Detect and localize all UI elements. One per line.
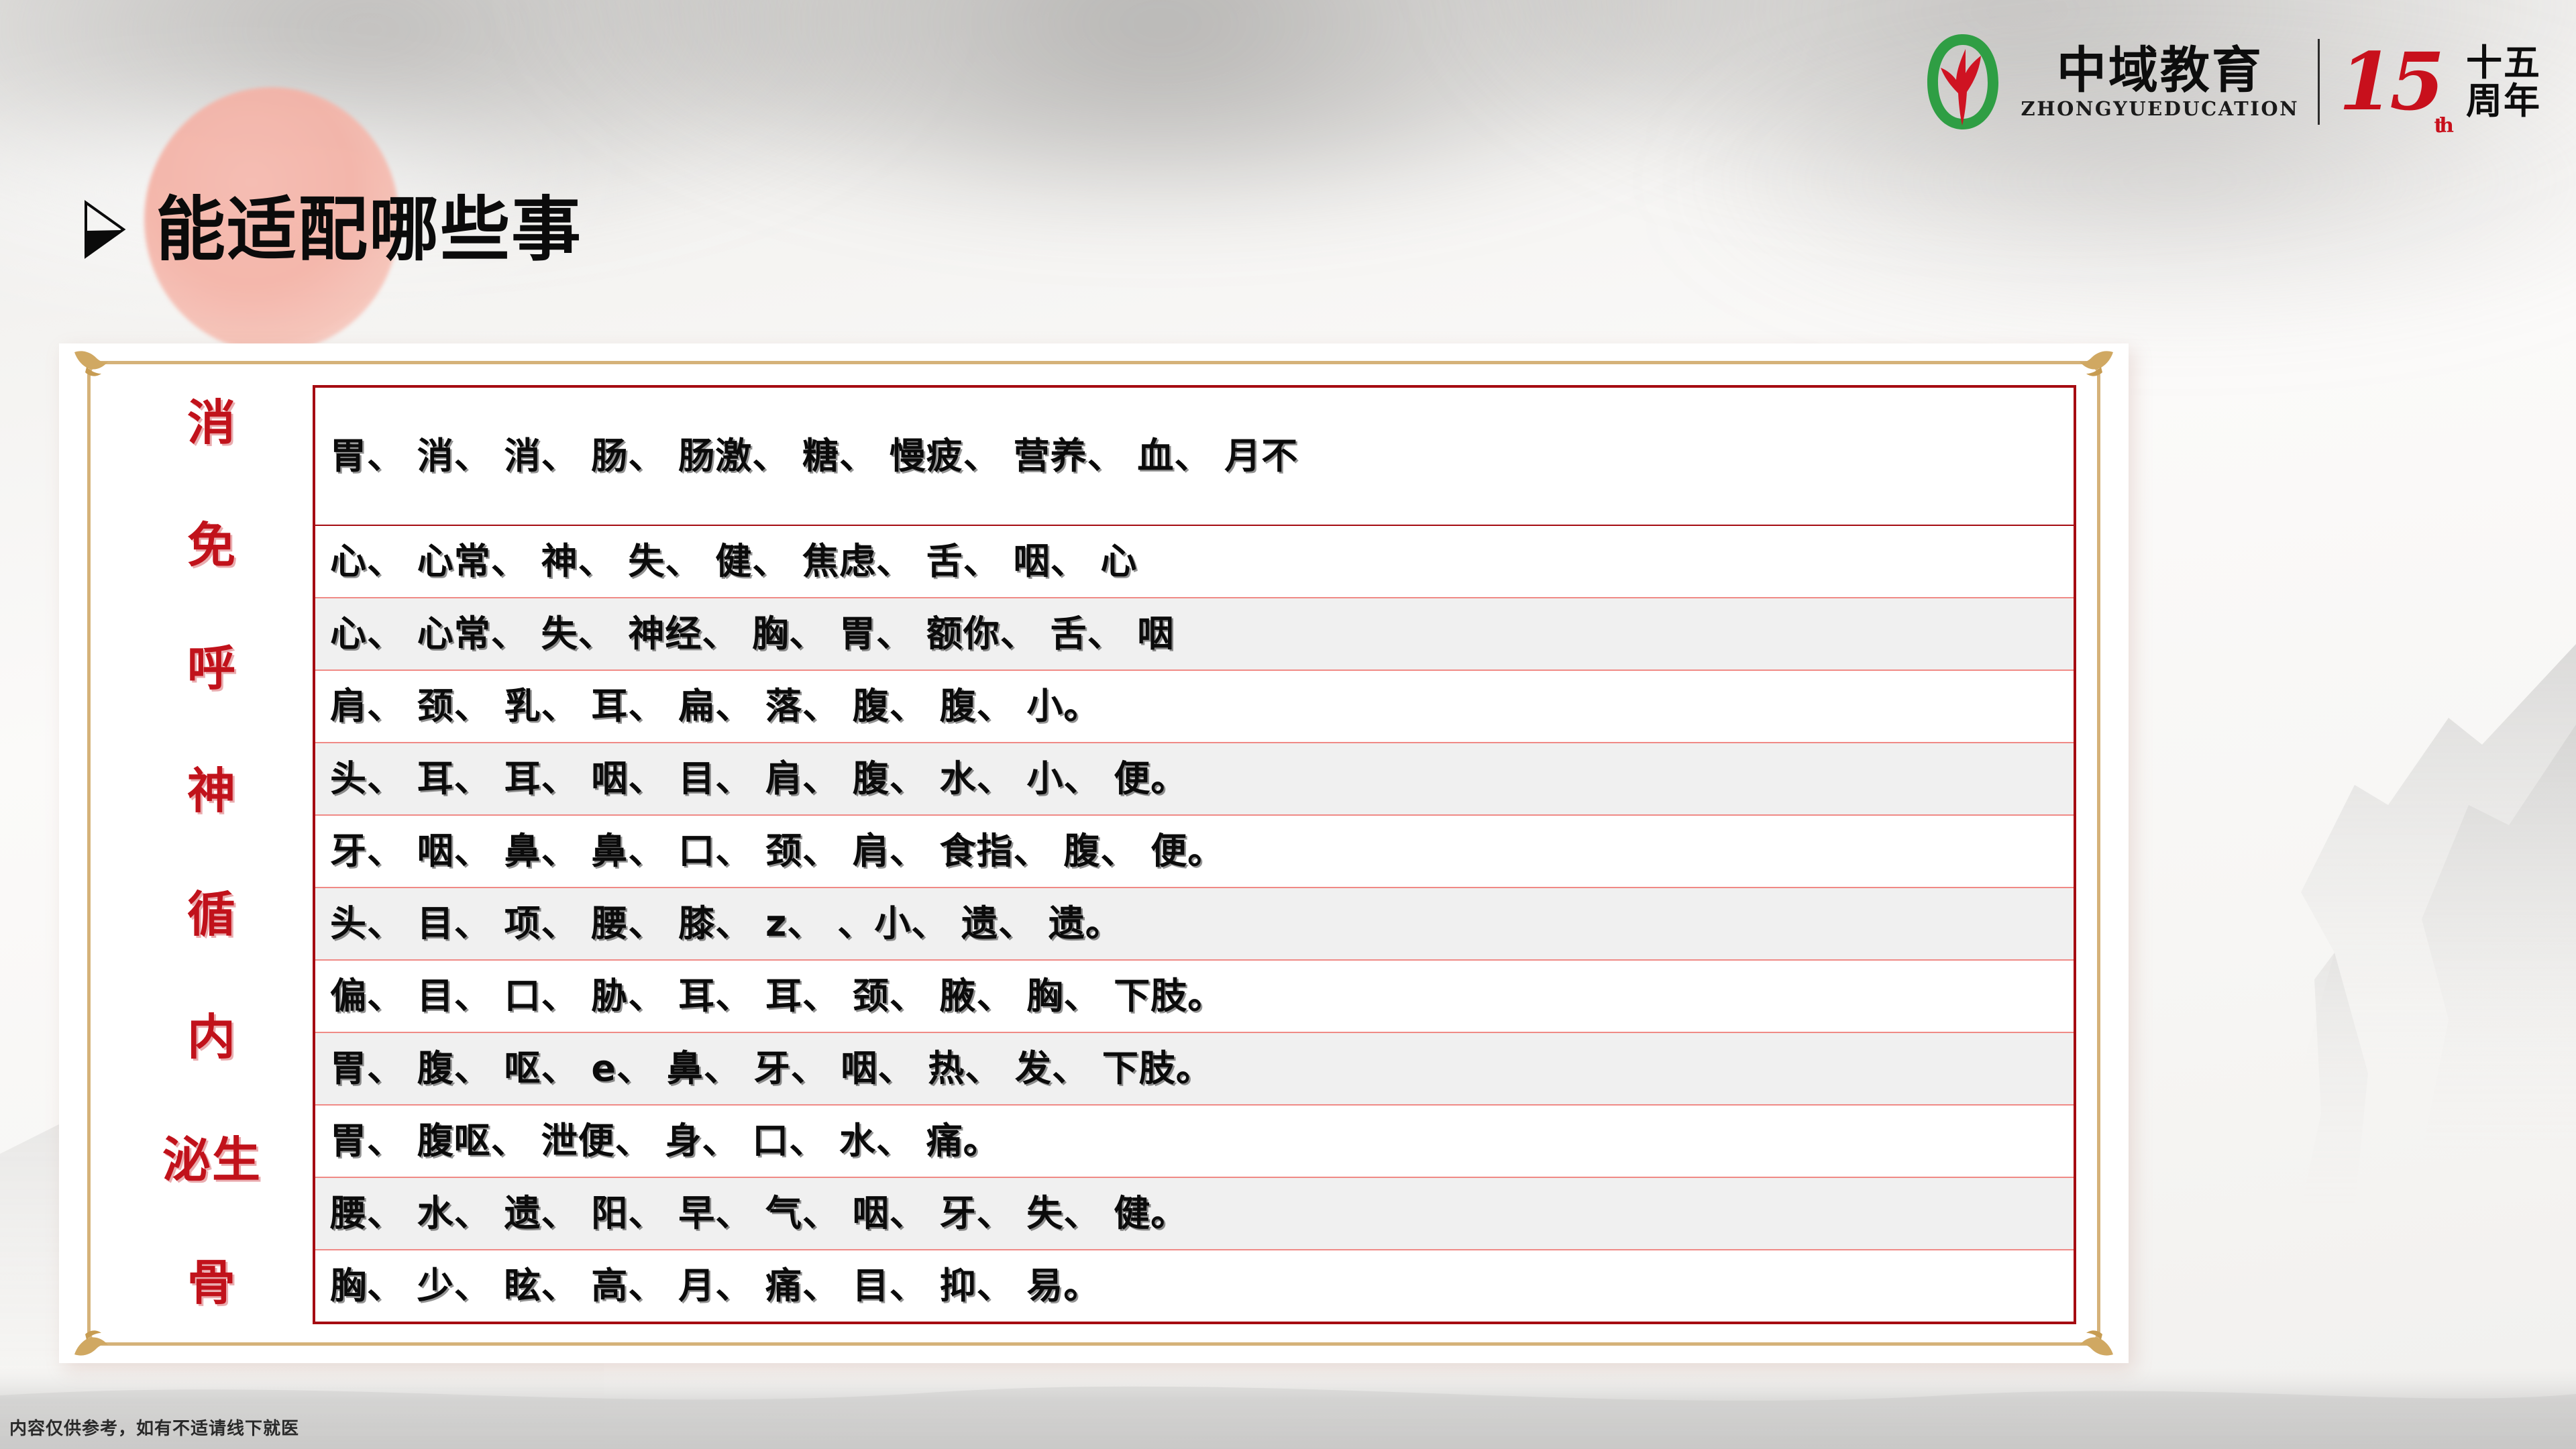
table-row: 头、 目、 项、 腰、 膝、 z、 、小、 遗、 遗。 [314,888,2075,960]
gold-corner-ornament-icon [73,348,109,378]
table-row: 心、 心常、 失、 神经、 胸、 胃、 额你、 舌、 咽 [314,598,2075,670]
brand-name-block: 中域教育 ZHONGYUEDUCATION [2021,46,2300,119]
gold-corner-ornament-icon [73,1329,109,1358]
category-label-column: 消免呼神循内泌生骨 [111,385,313,1324]
page-title: 能适配哪些事 [156,195,582,264]
ink-wash-mountain-right [2133,604,2576,1275]
table-row: 胃、 腹、 呕、 e、 鼻、 牙、 咽、 热、 发、 下肢。 [314,1032,2075,1105]
anniversary-label-line1: 十五 [2466,44,2541,82]
symptom-table: 胃、 消、 消、 肠、 肠激、 糖、 慢疲、 营养、 血、 月不心、 心常、 神… [313,385,2076,1324]
tulip-leaf-logo-icon [1923,32,2002,132]
table-row: 心、 心常、 神、 失、 健、 焦虑、 舌、 咽、 心 [314,525,2075,598]
category-label: 循 [187,890,237,938]
cloud-wisp [0,0,939,201]
table-row: 头、 耳、 耳、 咽、 目、 肩、 腹、 水、 小、 便。 [314,743,2075,815]
symptom-cell: 心、 心常、 失、 神经、 胸、 胃、 额你、 舌、 咽 [314,598,2075,670]
category-label: 消 [187,398,237,447]
symptom-cell: 腰、 水、 遗、 阳、 早、 气、 咽、 牙、 失、 健。 [314,1177,2075,1250]
disclaimer-text: 内容仅供参考，如有不适请线下就医 [9,1415,299,1440]
table-row: 偏、 目、 口、 胁、 耳、 耳、 颈、 腋、 胸、 下肢。 [314,960,2075,1032]
symptom-cell: 心、 心常、 神、 失、 健、 焦虑、 舌、 咽、 心 [314,525,2075,598]
gold-corner-ornament-icon [2078,348,2114,378]
symptom-cell: 胃、 消、 消、 肠、 肠激、 糖、 慢疲、 营养、 血、 月不 [314,386,2075,525]
cloud-wisp [523,0,1798,188]
table-row: 肩、 颈、 乳、 耳、 扁、 落、 腹、 腹、 小。 [314,670,2075,743]
triangle-right-bullet-icon [80,200,127,259]
table-row: 牙、 咽、 鼻、 鼻、 口、 颈、 肩、 食指、 腹、 便。 [314,815,2075,888]
anniversary-number: 15th [2339,44,2457,119]
symptom-cell: 牙、 咽、 鼻、 鼻、 口、 颈、 肩、 食指、 腹、 便。 [314,815,2075,888]
symptom-cell: 偏、 目、 口、 胁、 耳、 耳、 颈、 腋、 胸、 下肢。 [314,960,2075,1032]
category-label: 免 [187,521,237,570]
anniversary-ordinal-suffix: th [2434,114,2450,138]
symptom-cell: 头、 目、 项、 腰、 膝、 z、 、小、 遗、 遗。 [314,888,2075,960]
gold-corner-ornament-icon [2078,1329,2114,1358]
anniversary-badge: 15th 十五 周年 [2339,44,2541,120]
ink-wash-footer-band [0,1368,2576,1449]
table-row: 胃、 消、 消、 肠、 肠激、 糖、 慢疲、 营养、 血、 月不 [314,386,2075,525]
symptom-cell: 胃、 腹、 呕、 e、 鼻、 牙、 咽、 热、 发、 下肢。 [314,1032,2075,1105]
table-row: 胃、 腹呕、 泄便、 身、 口、 水、 痛。 [314,1105,2075,1177]
content-card: 消免呼神循内泌生骨 胃、 消、 消、 肠、 肠激、 糖、 慢疲、 营养、 血、 … [59,343,2129,1363]
symptom-cell: 胃、 腹呕、 泄便、 身、 口、 水、 痛。 [314,1105,2075,1177]
category-label: 内 [187,1013,237,1061]
anniversary-label-line2: 周年 [2466,82,2541,120]
brand-name-cn: 中域教育 [2057,46,2263,95]
brand-name-en: ZHONGYUEDUCATION [2021,99,2300,119]
category-label: 神 [187,767,237,815]
table-row: 胸、 少、 眩、 高、 月、 痛、 目、 抑、 易。 [314,1250,2075,1323]
symptom-cell: 胸、 少、 眩、 高、 月、 痛、 目、 抑、 易。 [314,1250,2075,1323]
symptom-cell: 头、 耳、 耳、 咽、 目、 肩、 腹、 水、 小、 便。 [314,743,2075,815]
symptom-table-wrapper: 胃、 消、 消、 肠、 肠激、 糖、 慢疲、 营养、 血、 月不心、 心常、 神… [313,385,2076,1324]
symptom-cell: 肩、 颈、 乳、 耳、 扁、 落、 腹、 腹、 小。 [314,670,2075,743]
slide-canvas: 中域教育 ZHONGYUEDUCATION 15th 十五 周年 能适配哪些事 [0,0,2576,1449]
category-label: 呼 [187,644,237,692]
category-label: 泌生 [162,1136,262,1184]
card-body: 消免呼神循内泌生骨 胃、 消、 消、 肠、 肠激、 糖、 慢疲、 营养、 血、 … [111,385,2076,1324]
anniversary-number-text: 15 [2339,35,2440,128]
table-row: 腰、 水、 遗、 阳、 早、 气、 咽、 牙、 失、 健。 [314,1177,2075,1250]
slide-heading: 能适配哪些事 [80,195,582,264]
brand-logo: 中域教育 ZHONGYUEDUCATION 15th 十五 周年 [1923,28,2541,136]
logo-divider [2318,39,2320,125]
category-label: 骨 [187,1258,237,1307]
anniversary-label-cn: 十五 周年 [2466,44,2541,120]
